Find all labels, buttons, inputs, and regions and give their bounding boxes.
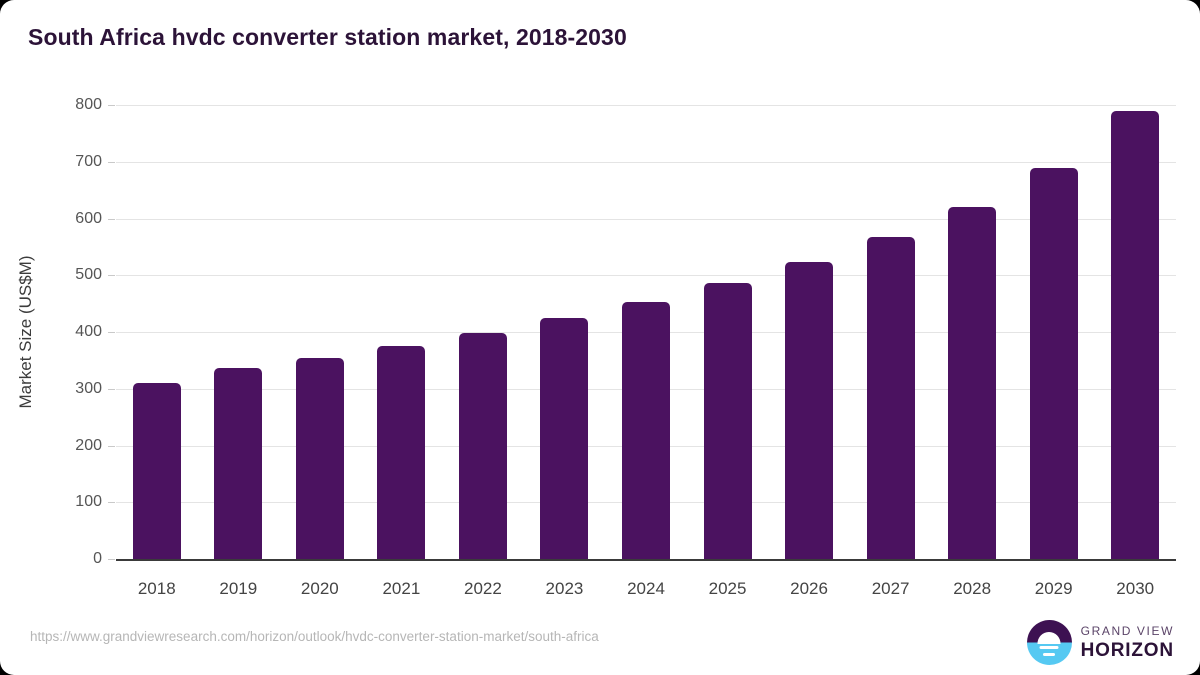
bar-group[interactable]: 2025 — [704, 105, 752, 559]
y-tick-mark — [108, 105, 115, 106]
bar-group[interactable]: 2019 — [214, 105, 262, 559]
bar[interactable] — [704, 283, 752, 559]
y-tick-label: 200 — [75, 437, 102, 455]
bar-group[interactable]: 2018 — [133, 105, 181, 559]
bar[interactable] — [459, 333, 507, 559]
logo-line-2 — [1043, 653, 1055, 656]
logo-dome-shape — [1038, 632, 1061, 644]
grand-view-horizon-logo[interactable]: GRAND VIEW HORIZON — [1027, 620, 1174, 665]
bar-group[interactable]: 2020 — [296, 105, 344, 559]
bar-group[interactable]: 2022 — [459, 105, 507, 559]
y-axis-title: Market Size (US$M) — [16, 255, 36, 408]
chart-card: South Africa hvdc converter station mark… — [0, 0, 1200, 675]
bar-group[interactable]: 2023 — [540, 105, 588, 559]
y-tick-mark — [108, 162, 115, 163]
y-tick-label: 600 — [75, 210, 102, 228]
bar-group[interactable]: 2026 — [785, 105, 833, 559]
bar[interactable] — [948, 207, 996, 559]
y-tick-label: 400 — [75, 323, 102, 341]
bar-group[interactable]: 2030 — [1111, 105, 1159, 559]
x-tick-label: 2030 — [1111, 579, 1159, 599]
x-tick-label: 2022 — [459, 579, 507, 599]
x-tick-label: 2029 — [1030, 579, 1078, 599]
y-tick-mark — [108, 502, 115, 503]
bar[interactable] — [540, 318, 588, 559]
bar[interactable] — [377, 346, 425, 559]
bar[interactable] — [296, 358, 344, 559]
x-tick-label: 2020 — [296, 579, 344, 599]
bar[interactable] — [214, 368, 262, 559]
logo-line-1 — [1040, 646, 1059, 649]
x-tick-label: 2024 — [622, 579, 670, 599]
y-tick-label: 100 — [75, 493, 102, 511]
logo-text: GRAND VIEW HORIZON — [1081, 625, 1174, 660]
y-tick-mark — [108, 275, 115, 276]
y-tick-mark — [108, 219, 115, 220]
x-tick-label: 2028 — [948, 579, 996, 599]
x-tick-label: 2019 — [214, 579, 262, 599]
y-tick-mark — [108, 389, 115, 390]
y-tick-label: 700 — [75, 153, 102, 171]
logo-brand-line-2: HORIZON — [1081, 641, 1174, 660]
bar[interactable] — [1111, 111, 1159, 559]
bar[interactable] — [1030, 168, 1078, 559]
bar[interactable] — [867, 237, 915, 559]
plot-area: 0100200300400500600700800 20182019202020… — [116, 105, 1176, 559]
page-title: South Africa hvdc converter station mark… — [28, 24, 627, 51]
x-tick-label: 2026 — [785, 579, 833, 599]
y-tick-mark — [108, 332, 115, 333]
x-tick-label: 2021 — [377, 579, 425, 599]
source-url[interactable]: https://www.grandviewresearch.com/horizo… — [30, 629, 599, 644]
bar-group[interactable]: 2024 — [622, 105, 670, 559]
logo-brand-line-1: GRAND VIEW — [1081, 625, 1174, 637]
x-axis-line — [116, 559, 1176, 561]
y-tick-label: 800 — [75, 96, 102, 114]
y-tick-mark — [108, 559, 115, 560]
bar-group[interactable]: 2027 — [867, 105, 915, 559]
bar-group[interactable]: 2029 — [1030, 105, 1078, 559]
y-tick-label: 500 — [75, 266, 102, 284]
horizon-sun-icon — [1027, 620, 1072, 665]
x-tick-label: 2023 — [540, 579, 588, 599]
bar-group[interactable]: 2021 — [377, 105, 425, 559]
bar[interactable] — [133, 383, 181, 559]
bar[interactable] — [785, 262, 833, 559]
x-tick-label: 2025 — [704, 579, 752, 599]
bar-group[interactable]: 2028 — [948, 105, 996, 559]
bar[interactable] — [622, 302, 670, 559]
x-tick-label: 2018 — [133, 579, 181, 599]
y-tick-label: 0 — [93, 550, 102, 568]
x-tick-label: 2027 — [867, 579, 915, 599]
y-tick-label: 300 — [75, 380, 102, 398]
y-tick-mark — [108, 446, 115, 447]
